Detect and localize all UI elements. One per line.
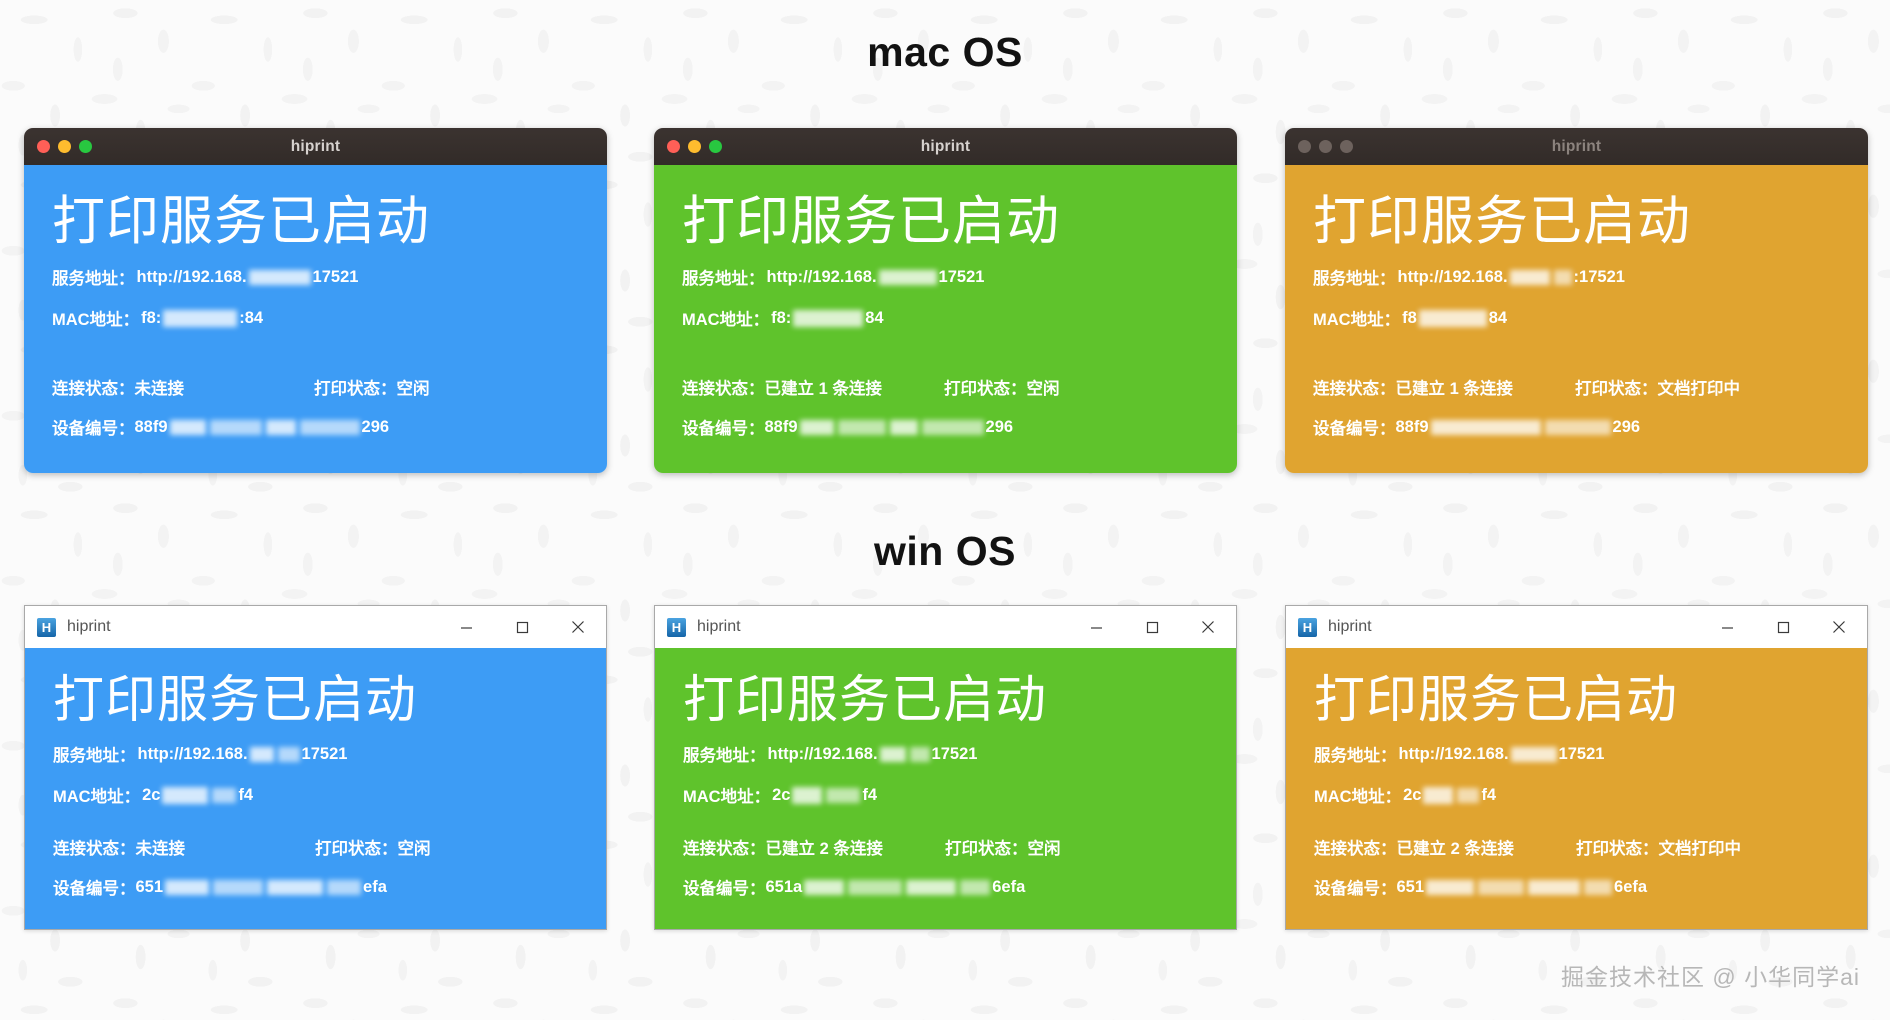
win-window-blue[interactable]: H hiprint 打印服务已启动 服务地址： http://192.168. (24, 605, 607, 930)
window-title: hiprint (1285, 138, 1868, 156)
status-area: 连接状态：已建立 1 条连接 打印状态：空闲 设备编号： 88f9 296 (682, 375, 1209, 439)
redaction-block (960, 880, 990, 895)
redaction-block (1478, 880, 1524, 895)
connection-status-value: 未连接 (135, 380, 185, 398)
mac-address-suffix: f4 (238, 786, 253, 805)
mac-address-label: MAC地址： (52, 306, 139, 330)
device-id-label: 设备编号： (1314, 875, 1397, 899)
redaction-block (213, 880, 263, 895)
minimize-icon (1090, 621, 1103, 634)
print-status-value: 空闲 (1028, 840, 1061, 858)
status-heading: 打印服务已启动 (683, 648, 1208, 725)
mac-address-label: MAC地址： (1314, 783, 1401, 807)
print-status-cell: 打印状态：空闲 (944, 375, 1060, 399)
service-address-value: http://192.168. (768, 745, 878, 764)
mac-address-line: MAC地址： f8: :84 (52, 306, 579, 330)
connection-status-label: 连接状态： (52, 380, 135, 398)
mac-address-suffix: 84 (1489, 309, 1507, 328)
redaction-block (826, 788, 860, 803)
close-light-icon[interactable] (37, 140, 50, 153)
minimize-button[interactable] (1699, 606, 1755, 648)
watermark: 掘金技术社区 @ 小华同学ai (1561, 958, 1860, 992)
mac-address-line: MAC地址： 2c f4 (53, 783, 578, 807)
redaction-block (1528, 880, 1580, 895)
section-heading-win: win OS (0, 528, 1890, 575)
zoom-light-icon[interactable] (79, 140, 92, 153)
print-status-cell: 打印状态：空闲 (315, 835, 431, 859)
status-heading: 打印服务已启动 (52, 165, 579, 248)
page-root: mac OS win OS hiprint 打印服务已启动 服务地址： http… (0, 0, 1890, 1020)
mac-titlebar[interactable]: hiprint (1285, 128, 1868, 165)
mac-address-prefix: 2c (142, 786, 160, 805)
mac-address-suffix: f4 (1481, 786, 1496, 805)
print-status-label: 打印状态： (944, 380, 1027, 398)
status-area: 连接状态：已建立 1 条连接 打印状态：文档打印中 设备编号： 88f9 296 (1313, 375, 1840, 439)
mac-address-prefix: f8 (1402, 309, 1417, 328)
maximize-button[interactable] (1124, 606, 1180, 648)
close-button[interactable] (1180, 606, 1236, 648)
status-heading: 打印服务已启动 (682, 165, 1209, 248)
redaction-block (162, 787, 208, 804)
device-id-suffix: 296 (986, 418, 1014, 437)
window-title: hiprint (654, 138, 1237, 156)
service-address-port: 17521 (939, 268, 985, 287)
mac-traffic-lights (1298, 128, 1353, 165)
redaction-block (278, 747, 300, 762)
mac-address-prefix: 2c (772, 786, 790, 805)
connection-status-cell: 连接状态：已建立 2 条连接 (683, 835, 945, 859)
print-status-label: 打印状态： (314, 380, 397, 398)
device-id-label: 设备编号： (682, 415, 765, 439)
redaction-block (879, 270, 937, 285)
mac-address-label: MAC地址： (53, 783, 140, 807)
zoom-light-icon[interactable] (1340, 140, 1353, 153)
minimize-button[interactable] (438, 606, 494, 648)
win-titlebar[interactable]: H hiprint (1286, 606, 1867, 648)
print-status-label: 打印状态： (945, 840, 1028, 858)
window-body: 打印服务已启动 服务地址： http://192.168. :17521 MAC… (1285, 165, 1868, 473)
window-body: 打印服务已启动 服务地址： http://192.168. 17521 MAC地… (25, 648, 606, 929)
mac-address-prefix: f8: (771, 309, 791, 328)
mac-traffic-lights (37, 128, 92, 165)
redaction-block (1584, 880, 1612, 895)
print-status-value: 空闲 (398, 840, 431, 858)
status-heading: 打印服务已启动 (53, 648, 578, 725)
mac-address-prefix: f8: (141, 309, 161, 328)
redaction-block (210, 420, 262, 435)
close-icon (1832, 620, 1846, 634)
device-id-prefix: 88f9 (1396, 418, 1429, 437)
service-address-port: 17521 (932, 745, 978, 764)
mac-address-line: MAC地址： f8: 84 (682, 306, 1209, 330)
win-window-controls (1068, 606, 1236, 648)
minimize-light-icon[interactable] (1319, 140, 1332, 153)
win-titlebar[interactable]: H hiprint (655, 606, 1236, 648)
device-id-row: 设备编号： 651 efa (53, 875, 578, 899)
redaction-block (266, 420, 296, 435)
mac-titlebar[interactable]: hiprint (24, 128, 607, 165)
redaction-block (848, 880, 902, 895)
mac-titlebar[interactable]: hiprint (654, 128, 1237, 165)
status-heading: 打印服务已启动 (1313, 165, 1840, 248)
redaction-block (249, 270, 311, 285)
redaction-block (250, 747, 274, 762)
minimize-icon (460, 621, 473, 634)
connection-status-value: 已建立 2 条连接 (1397, 840, 1514, 858)
service-address-label: 服务地址： (682, 265, 765, 289)
redaction-block (1426, 880, 1474, 895)
service-address-line: 服务地址： http://192.168. 17521 (682, 265, 1209, 289)
connection-status-cell: 连接状态：未连接 (52, 375, 314, 399)
close-light-icon[interactable] (1298, 140, 1311, 153)
service-address-value: http://192.168. (1398, 268, 1508, 287)
connection-status-value: 已建立 1 条连接 (765, 380, 882, 398)
maximize-button[interactable] (494, 606, 550, 648)
service-address-line: 服务地址： http://192.168. 17521 (683, 742, 1208, 766)
mac-address-label: MAC地址： (1313, 306, 1400, 330)
redaction-block (212, 788, 236, 803)
connection-status-label: 连接状态： (53, 840, 136, 858)
mac-traffic-lights (667, 128, 722, 165)
maximize-icon (1777, 621, 1790, 634)
minimize-button[interactable] (1068, 606, 1124, 648)
device-id-label: 设备编号： (1313, 415, 1396, 439)
redaction-block (163, 310, 237, 327)
redaction-block (1419, 310, 1487, 327)
service-address-port: :17521 (1574, 268, 1625, 287)
maximize-icon (1146, 621, 1159, 634)
mac-address-label: MAC地址： (683, 783, 770, 807)
connection-status-cell: 连接状态：已建立 2 条连接 (1314, 835, 1576, 859)
mac-address-prefix: 2c (1403, 786, 1421, 805)
maximize-button[interactable] (1755, 606, 1811, 648)
mac-address-line: MAC地址： f8 84 (1313, 306, 1840, 330)
connection-status-label: 连接状态： (682, 380, 765, 398)
status-area: 连接状态：未连接 打印状态：空闲 设备编号： 651 efa (53, 835, 578, 899)
print-status-value: 空闲 (397, 380, 430, 398)
window-body: 打印服务已启动 服务地址： http://192.168. 17521 MAC地… (654, 165, 1237, 473)
device-id-label: 设备编号： (683, 875, 766, 899)
connection-status-cell: 连接状态：已建立 1 条连接 (1313, 375, 1575, 399)
mac-address-suffix: :84 (239, 309, 263, 328)
status-row: 连接状态：未连接 打印状态：空闲 (53, 835, 578, 859)
service-address-label: 服务地址： (1314, 742, 1397, 766)
close-icon (1201, 620, 1215, 634)
section-heading-mac: mac OS (0, 29, 1890, 76)
device-id-label: 设备编号： (53, 875, 136, 899)
redaction-block (793, 310, 863, 327)
redaction-block (800, 420, 834, 435)
app-icon: H (667, 618, 686, 637)
device-id-row: 设备编号： 88f9 296 (1313, 415, 1840, 439)
status-area: 连接状态：未连接 打印状态：空闲 设备编号： 88f9 296 (52, 375, 579, 439)
connection-status-label: 连接状态： (683, 840, 766, 858)
mac-address-suffix: f4 (862, 786, 877, 805)
redaction-block (922, 420, 984, 435)
print-status-label: 打印状态： (1576, 840, 1659, 858)
redaction-block (1510, 270, 1550, 285)
service-address-line: 服务地址： http://192.168. 17521 (1314, 742, 1839, 766)
redaction-block (890, 420, 918, 435)
device-id-suffix: 6efa (1614, 878, 1647, 897)
status-row: 连接状态：已建立 2 条连接 打印状态：文档打印中 (1314, 835, 1839, 859)
window-title: hiprint (697, 618, 741, 636)
close-button[interactable] (1811, 606, 1867, 648)
zoom-light-icon[interactable] (709, 140, 722, 153)
minimize-light-icon[interactable] (58, 140, 71, 153)
device-id-suffix: efa (363, 878, 387, 897)
status-heading: 打印服务已启动 (1314, 648, 1839, 725)
redaction-block (300, 420, 360, 435)
service-address-line: 服务地址： http://192.168. :17521 (1313, 265, 1840, 289)
connection-status-label: 连接状态： (1314, 840, 1397, 858)
service-address-port: 17521 (302, 745, 348, 764)
device-id-suffix: 296 (1613, 418, 1641, 437)
print-status-label: 打印状态： (315, 840, 398, 858)
app-icon: H (37, 618, 56, 637)
connection-status-value: 已建立 1 条连接 (1396, 380, 1513, 398)
device-id-row: 设备编号： 88f9 296 (52, 415, 579, 439)
service-address-label: 服务地址： (683, 742, 766, 766)
service-address-label: 服务地址： (1313, 265, 1396, 289)
window-body: 打印服务已启动 服务地址： http://192.168. 17521 MAC地… (24, 165, 607, 473)
status-row: 连接状态：已建立 2 条连接 打印状态：空闲 (683, 835, 1208, 859)
redaction-block (1457, 788, 1479, 803)
connection-status-cell: 连接状态：未连接 (53, 835, 315, 859)
print-status-value: 文档打印中 (1658, 380, 1741, 398)
redaction-block (1554, 270, 1572, 285)
redaction-block (880, 747, 906, 762)
redaction-block (165, 880, 209, 895)
service-address-port: 17521 (313, 268, 359, 287)
app-icon: H (1298, 618, 1317, 637)
redaction-block (1545, 420, 1611, 435)
print-status-value: 空闲 (1027, 380, 1060, 398)
redaction-block (1423, 787, 1453, 804)
service-address-value: http://192.168. (138, 745, 248, 764)
device-id-prefix: 651a (766, 878, 803, 897)
print-status-cell: 打印状态：空闲 (314, 375, 430, 399)
mac-address-label: MAC地址： (682, 306, 769, 330)
win-titlebar[interactable]: H hiprint (25, 606, 606, 648)
mac-address-line: MAC地址： 2c f4 (683, 783, 1208, 807)
service-address-value: http://192.168. (137, 268, 247, 287)
print-status-cell: 打印状态：文档打印中 (1576, 835, 1741, 859)
close-light-icon[interactable] (667, 140, 680, 153)
win-window-orange[interactable]: H hiprint 打印服务已启动 服务地址： http://192.168. (1285, 605, 1868, 930)
redaction-block (804, 880, 844, 895)
mac-window-blue[interactable]: hiprint 打印服务已启动 服务地址： http://192.168. 17… (24, 128, 607, 473)
device-id-label: 设备编号： (52, 415, 135, 439)
print-status-cell: 打印状态：空闲 (945, 835, 1061, 859)
service-address-line: 服务地址： http://192.168. 17521 (52, 265, 579, 289)
print-status-value: 文档打印中 (1659, 840, 1742, 858)
print-status-label: 打印状态： (1575, 380, 1658, 398)
service-address-value: http://192.168. (1399, 745, 1509, 764)
window-title: hiprint (24, 138, 607, 156)
maximize-icon (516, 621, 529, 634)
device-id-suffix: 296 (362, 418, 390, 437)
win-window-controls (438, 606, 606, 648)
service-address-label: 服务地址： (53, 742, 136, 766)
device-id-prefix: 88f9 (765, 418, 798, 437)
device-id-row: 设备编号： 88f9 296 (682, 415, 1209, 439)
status-area: 连接状态：已建立 2 条连接 打印状态：文档打印中 设备编号： 651 6efa (1314, 835, 1839, 899)
connection-status-value: 已建立 2 条连接 (766, 840, 883, 858)
redaction-block (1431, 420, 1541, 435)
connection-status-value: 未连接 (136, 840, 186, 858)
status-row: 连接状态：已建立 1 条连接 打印状态：文档打印中 (1313, 375, 1840, 399)
connection-status-cell: 连接状态：已建立 1 条连接 (682, 375, 944, 399)
device-id-row: 设备编号： 651a 6efa (683, 875, 1208, 899)
device-id-row: 设备编号： 651 6efa (1314, 875, 1839, 899)
window-title: hiprint (1328, 618, 1372, 636)
service-address-label: 服务地址： (52, 265, 135, 289)
redaction-block (267, 880, 323, 895)
mac-address-suffix: 84 (865, 309, 883, 328)
mac-window-green[interactable]: hiprint 打印服务已启动 服务地址： http://192.168. 17… (654, 128, 1237, 473)
redaction-block (792, 787, 822, 804)
service-address-port: 17521 (1559, 745, 1605, 764)
minimize-light-icon[interactable] (688, 140, 701, 153)
redaction-block (327, 880, 361, 895)
minimize-icon (1721, 621, 1734, 634)
window-body: 打印服务已启动 服务地址： http://192.168. 17521 MAC地… (1286, 648, 1867, 929)
status-row: 连接状态：未连接 打印状态：空闲 (52, 375, 579, 399)
device-id-prefix: 651 (136, 878, 164, 897)
window-title: hiprint (67, 618, 111, 636)
connection-status-label: 连接状态： (1313, 380, 1396, 398)
device-id-prefix: 88f9 (135, 418, 168, 437)
print-status-cell: 打印状态：文档打印中 (1575, 375, 1740, 399)
close-button[interactable] (550, 606, 606, 648)
status-area: 连接状态：已建立 2 条连接 打印状态：空闲 设备编号： 651a 6efa (683, 835, 1208, 899)
mac-window-orange[interactable]: hiprint 打印服务已启动 服务地址： http://192.168. :1… (1285, 128, 1868, 473)
status-row: 连接状态：已建立 1 条连接 打印状态：空闲 (682, 375, 1209, 399)
redaction-block (170, 420, 206, 435)
redaction-block (910, 747, 930, 762)
close-icon (571, 620, 585, 634)
redaction-block (906, 880, 956, 895)
mac-address-line: MAC地址： 2c f4 (1314, 783, 1839, 807)
service-address-value: http://192.168. (767, 268, 877, 287)
device-id-prefix: 651 (1397, 878, 1425, 897)
window-body: 打印服务已启动 服务地址： http://192.168. 17521 MAC地… (655, 648, 1236, 929)
redaction-block (838, 420, 886, 435)
win-window-controls (1699, 606, 1867, 648)
service-address-line: 服务地址： http://192.168. 17521 (53, 742, 578, 766)
win-window-green[interactable]: H hiprint 打印服务已启动 服务地址： http://192.168. (654, 605, 1237, 930)
redaction-block (1511, 747, 1557, 762)
device-id-suffix: 6efa (992, 878, 1025, 897)
